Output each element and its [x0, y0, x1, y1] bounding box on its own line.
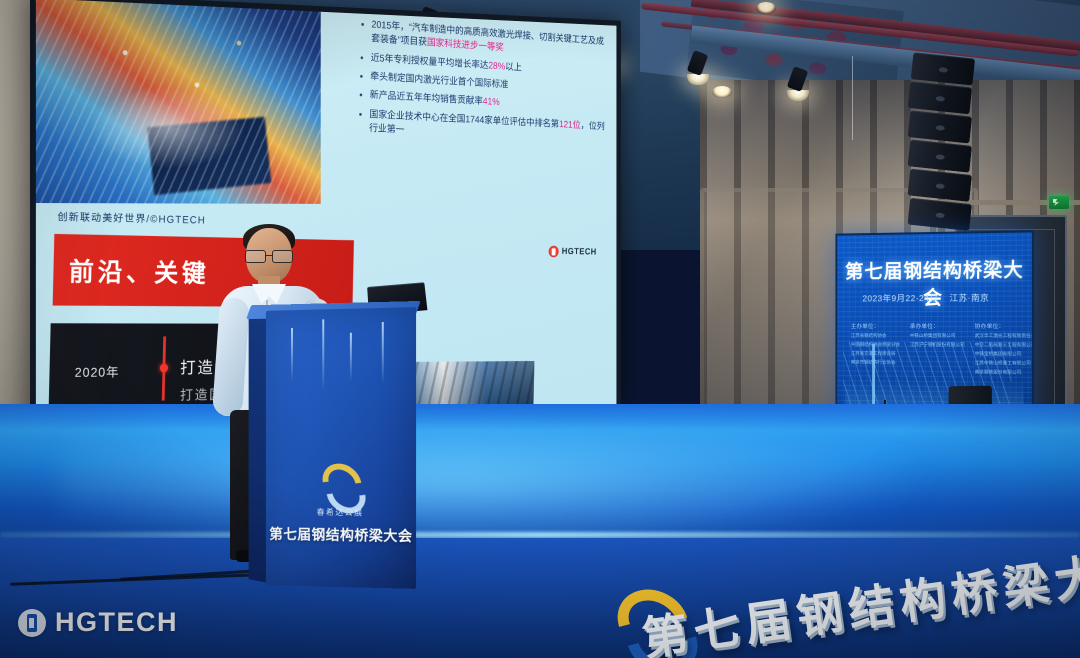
stage-letter: 梁 — [998, 547, 1053, 619]
organizer-line: 江苏沪宁钢机股份有限公司 — [910, 342, 965, 349]
hgtech-watermark-text: HGTECH — [55, 607, 178, 638]
hanging-wire — [852, 56, 853, 140]
stage-letter: 桥 — [947, 554, 1002, 626]
organizer-line: 江苏中铁山桥重工有限公司 — [975, 360, 1034, 367]
track-light — [790, 68, 809, 101]
organizer-line: 中国钢结构协会桥梁分会 — [851, 342, 900, 349]
organizer-column: 协办单位： 武汉华工激光工程有限责任公司 中交二航局第三工程有限公司 中铁宝桥集… — [975, 322, 1034, 378]
hgtech-watermark: HGTECH — [18, 607, 178, 638]
ceiling-bulb — [712, 86, 732, 98]
stage-letter: 七 — [689, 590, 744, 658]
side-screen-place: 江苏·南京 — [950, 292, 990, 304]
organizer-line: 中铁宝桥集团有限公司 — [975, 351, 1034, 358]
ceiling-bulb — [756, 2, 776, 14]
side-screen-organizers: 主办单位： 江苏省钢结构协会 中国钢结构协会桥梁分会 江苏省交通工程建设局 南京… — [851, 322, 1022, 378]
stage-letter: 第 — [638, 598, 693, 658]
stage-letter: 钢 — [792, 576, 847, 648]
podium: 春希达公展 第七届钢结构桥梁大会 — [266, 307, 416, 589]
stage-letter: 大 — [1049, 540, 1080, 612]
organizer-heading: 承办单位： — [910, 322, 965, 330]
side-led-screen: 第七届钢结构桥梁大会 2023年9月22-24日 江苏·南京 主办单位： 江苏省… — [835, 230, 1034, 425]
podium-conference-title: 第七届钢结构桥梁大会 — [266, 524, 416, 546]
stage-letter: 届 — [741, 583, 796, 655]
organizer-line: 中交二航局第三工程有限公司 — [975, 342, 1034, 349]
organizer-heading: 协办单位： — [975, 322, 1034, 330]
organizer-column: 主办单位： 江苏省钢结构协会 中国钢结构协会桥梁分会 江苏省交通工程建设局 南京… — [851, 322, 900, 377]
hgtech-circle-icon — [18, 609, 46, 637]
organizer-line: 中铁山桥集团有限公司 — [910, 333, 965, 340]
organizer-line: 南京市钢结构行业协会 — [851, 359, 900, 366]
stage-letter: 结 — [844, 569, 899, 641]
organizer-line: 南京钢铁股份有限公司 — [975, 369, 1034, 376]
glasses-icon — [245, 250, 293, 261]
stage-letter: 构 — [895, 561, 950, 633]
side-screen-date: 2023年9月22-24日 — [862, 292, 938, 304]
podium-brand-text: 春希达公展 — [266, 506, 416, 519]
conference-logo — [319, 464, 360, 502]
organizer-line: 武汉华工激光工程有限责任公司 — [975, 333, 1034, 340]
organizer-line: 江苏省交通工程建设局 — [851, 350, 900, 357]
track-light — [690, 52, 709, 85]
organizer-heading: 主办单位： — [851, 322, 900, 330]
conference-photo-scene: 2015年，“汽车制造中的高质高效激光焊接、切割关键工艺及成套装备”项目获国家科… — [0, 0, 1080, 658]
organizer-column: 承办单位： 中铁山桥集团有限公司 江苏沪宁钢机股份有限公司 — [910, 322, 965, 378]
podium-front-panel — [266, 307, 416, 589]
organizer-line: 江苏省钢结构协会 — [851, 333, 900, 340]
exit-sign-icon — [1049, 196, 1069, 209]
